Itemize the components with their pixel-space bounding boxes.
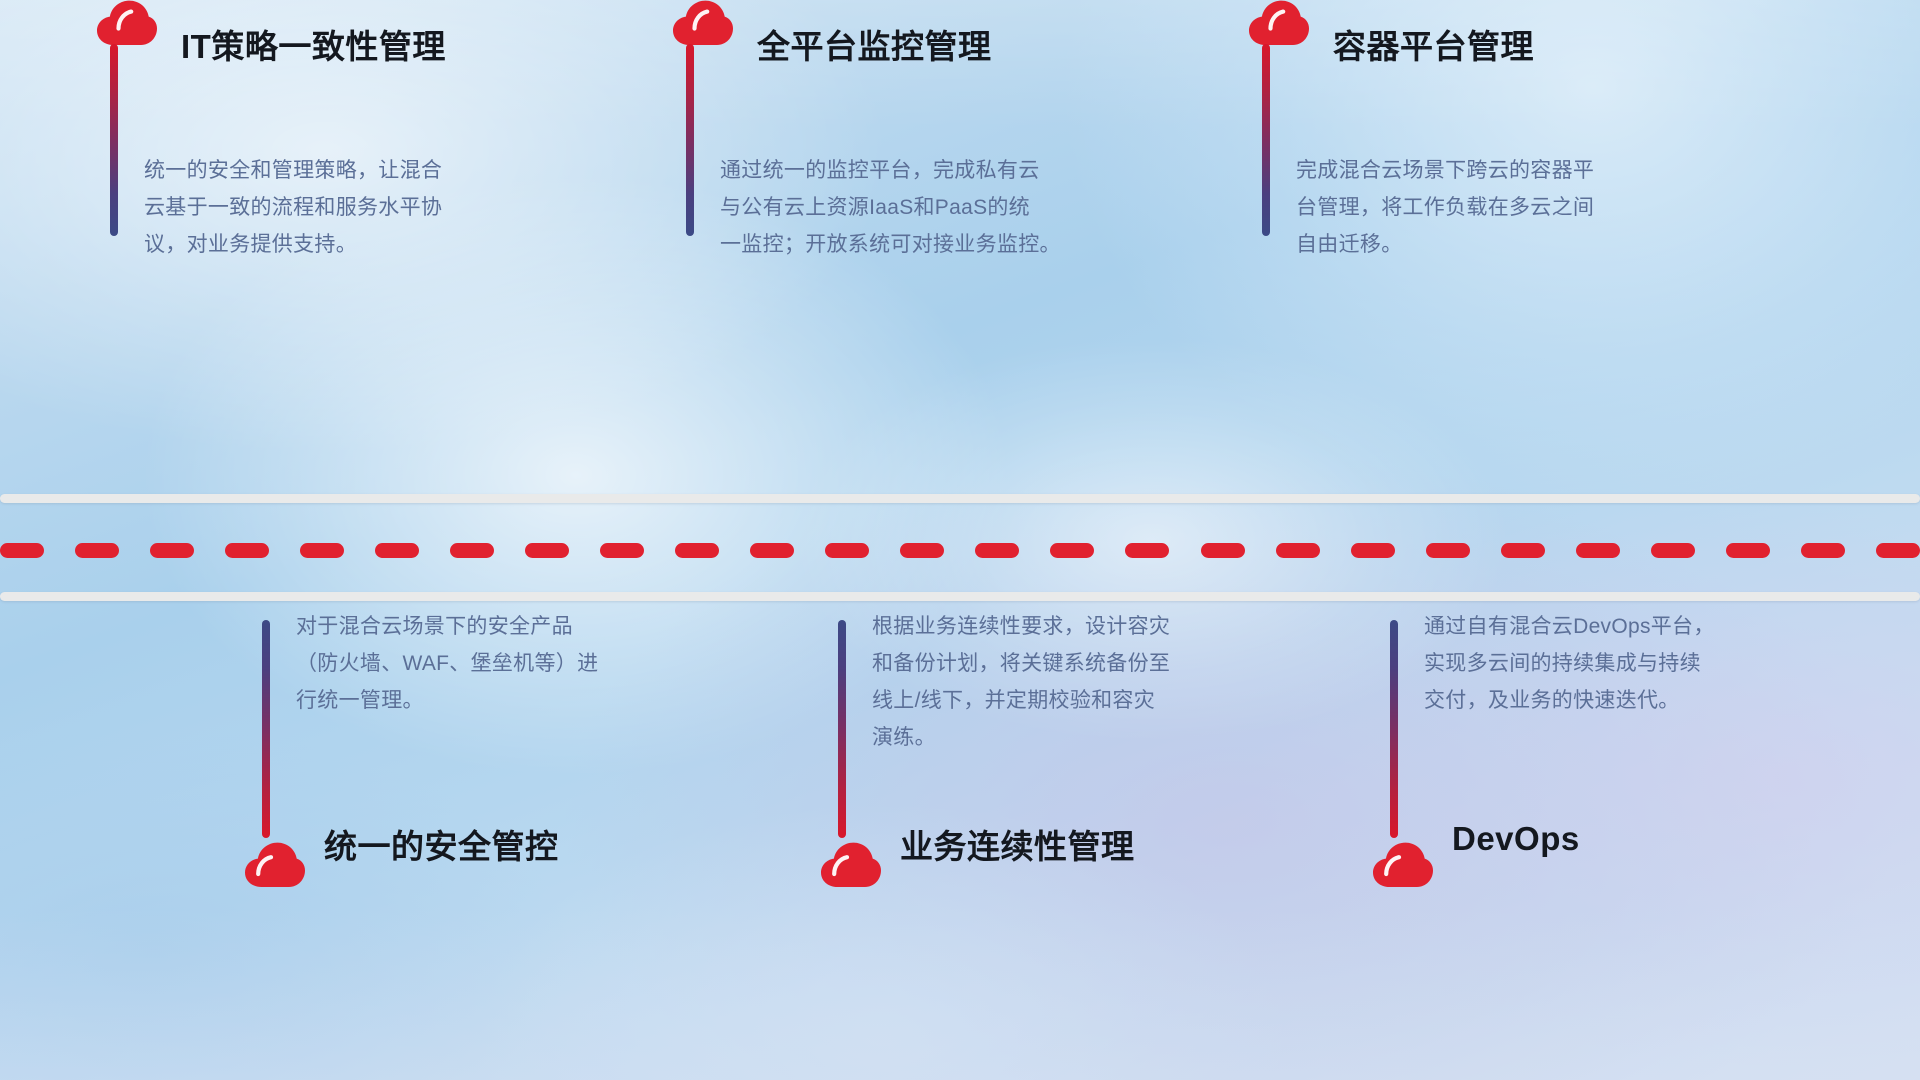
divider-dash xyxy=(1050,543,1094,558)
body-line: 统一的安全和管理策略，让混合 xyxy=(144,152,564,189)
divider-dash xyxy=(375,543,419,558)
body-line: 一监控；开放系统可对接业务监控。 xyxy=(720,226,1140,263)
body-line: 行统一管理。 xyxy=(296,682,716,719)
connector-stem-a xyxy=(110,44,118,236)
body-line: 与公有云上资源IaaS和PaaS的统 xyxy=(720,189,1140,226)
body-line: 云基于一致的流程和服务水平协 xyxy=(144,189,564,226)
divider-dash xyxy=(825,543,869,558)
divider-dash xyxy=(750,543,794,558)
cloud-icon xyxy=(244,842,306,888)
top-heading-a: IT策略一致性管理 xyxy=(181,20,446,68)
divider-dash xyxy=(1426,543,1470,558)
divider-rail-top xyxy=(0,494,1920,503)
cloud-icon xyxy=(672,0,734,46)
divider-dash xyxy=(1651,543,1695,558)
bottom-body-d: 对于混合云场景下的安全产品 （防火墙、WAF、堡垒机等）进 行统一管理。 xyxy=(296,608,716,719)
connector-stem-d xyxy=(262,620,270,838)
divider-dash xyxy=(1876,543,1920,558)
connector-stem-b xyxy=(686,44,694,236)
connector-group-b xyxy=(672,0,712,46)
body-line: 对于混合云场景下的安全产品 xyxy=(296,608,716,645)
dashed-divider-line xyxy=(0,542,1920,558)
cloud-icon xyxy=(1248,0,1310,46)
divider-dash xyxy=(1351,543,1395,558)
divider-dash xyxy=(525,543,569,558)
connector-stem-e xyxy=(838,620,846,838)
divider-rail-bottom xyxy=(0,592,1920,601)
body-line: 和备份计划，将关键系统备份至 xyxy=(872,645,1292,682)
divider-dash xyxy=(1276,543,1320,558)
body-line: 通过统一的监控平台，完成私有云 xyxy=(720,152,1140,189)
cloud-icon xyxy=(820,842,882,888)
divider-dash xyxy=(600,543,644,558)
divider-dash xyxy=(300,543,344,558)
divider-dash xyxy=(225,543,269,558)
bottom-body-f: 通过自有混合云DevOps平台， 实现多云间的持续集成与持续 交付，及业务的快速… xyxy=(1424,608,1844,719)
bottom-heading-f: DevOps xyxy=(1452,820,1580,858)
connector-group-c xyxy=(1248,0,1288,46)
body-line: 线上/线下，并定期校验和容灾 xyxy=(872,682,1292,719)
body-line: 交付，及业务的快速迭代。 xyxy=(1424,682,1844,719)
divider-dash xyxy=(450,543,494,558)
body-line: 台管理，将工作负载在多云之间 xyxy=(1296,189,1716,226)
divider-dash xyxy=(1501,543,1545,558)
body-line: 议，对业务提供支持。 xyxy=(144,226,564,263)
cloud-icon xyxy=(96,0,158,46)
body-line: 自由迁移。 xyxy=(1296,226,1716,263)
divider-dash xyxy=(1125,543,1169,558)
divider-dash xyxy=(675,543,719,558)
bottom-body-e: 根据业务连续性要求，设计容灾 和备份计划，将关键系统备份至 线上/线下，并定期校… xyxy=(872,608,1292,756)
divider-dash xyxy=(75,543,119,558)
divider-dash xyxy=(1576,543,1620,558)
divider-dash xyxy=(900,543,944,558)
divider-dash xyxy=(1726,543,1770,558)
divider-dash xyxy=(0,543,44,558)
infographic-canvas: IT策略一致性管理 统一的安全和管理策略，让混合 云基于一致的流程和服务水平协 … xyxy=(0,0,1920,1080)
bottom-heading-d: 统一的安全管控 xyxy=(324,820,559,868)
top-body-b: 通过统一的监控平台，完成私有云 与公有云上资源IaaS和PaaS的统 一监控；开… xyxy=(720,152,1140,263)
connector-group-a xyxy=(96,0,136,46)
body-line: 完成混合云场景下跨云的容器平 xyxy=(1296,152,1716,189)
top-heading-b: 全平台监控管理 xyxy=(757,20,992,68)
top-heading-c: 容器平台管理 xyxy=(1333,20,1534,68)
divider-dash xyxy=(1201,543,1245,558)
connector-stem-c xyxy=(1262,44,1270,236)
top-body-c: 完成混合云场景下跨云的容器平 台管理，将工作负载在多云之间 自由迁移。 xyxy=(1296,152,1716,263)
body-line: 演练。 xyxy=(872,719,1292,756)
cloud-icon xyxy=(1372,842,1434,888)
divider-dash xyxy=(150,543,194,558)
body-line: 通过自有混合云DevOps平台， xyxy=(1424,608,1844,645)
top-body-a: 统一的安全和管理策略，让混合 云基于一致的流程和服务水平协 议，对业务提供支持。 xyxy=(144,152,564,263)
bottom-heading-e: 业务连续性管理 xyxy=(900,820,1135,868)
body-line: （防火墙、WAF、堡垒机等）进 xyxy=(296,645,716,682)
body-line: 实现多云间的持续集成与持续 xyxy=(1424,645,1844,682)
body-line: 根据业务连续性要求，设计容灾 xyxy=(872,608,1292,645)
divider-dash xyxy=(1801,543,1845,558)
divider-dash xyxy=(975,543,1019,558)
connector-stem-f xyxy=(1390,620,1398,838)
